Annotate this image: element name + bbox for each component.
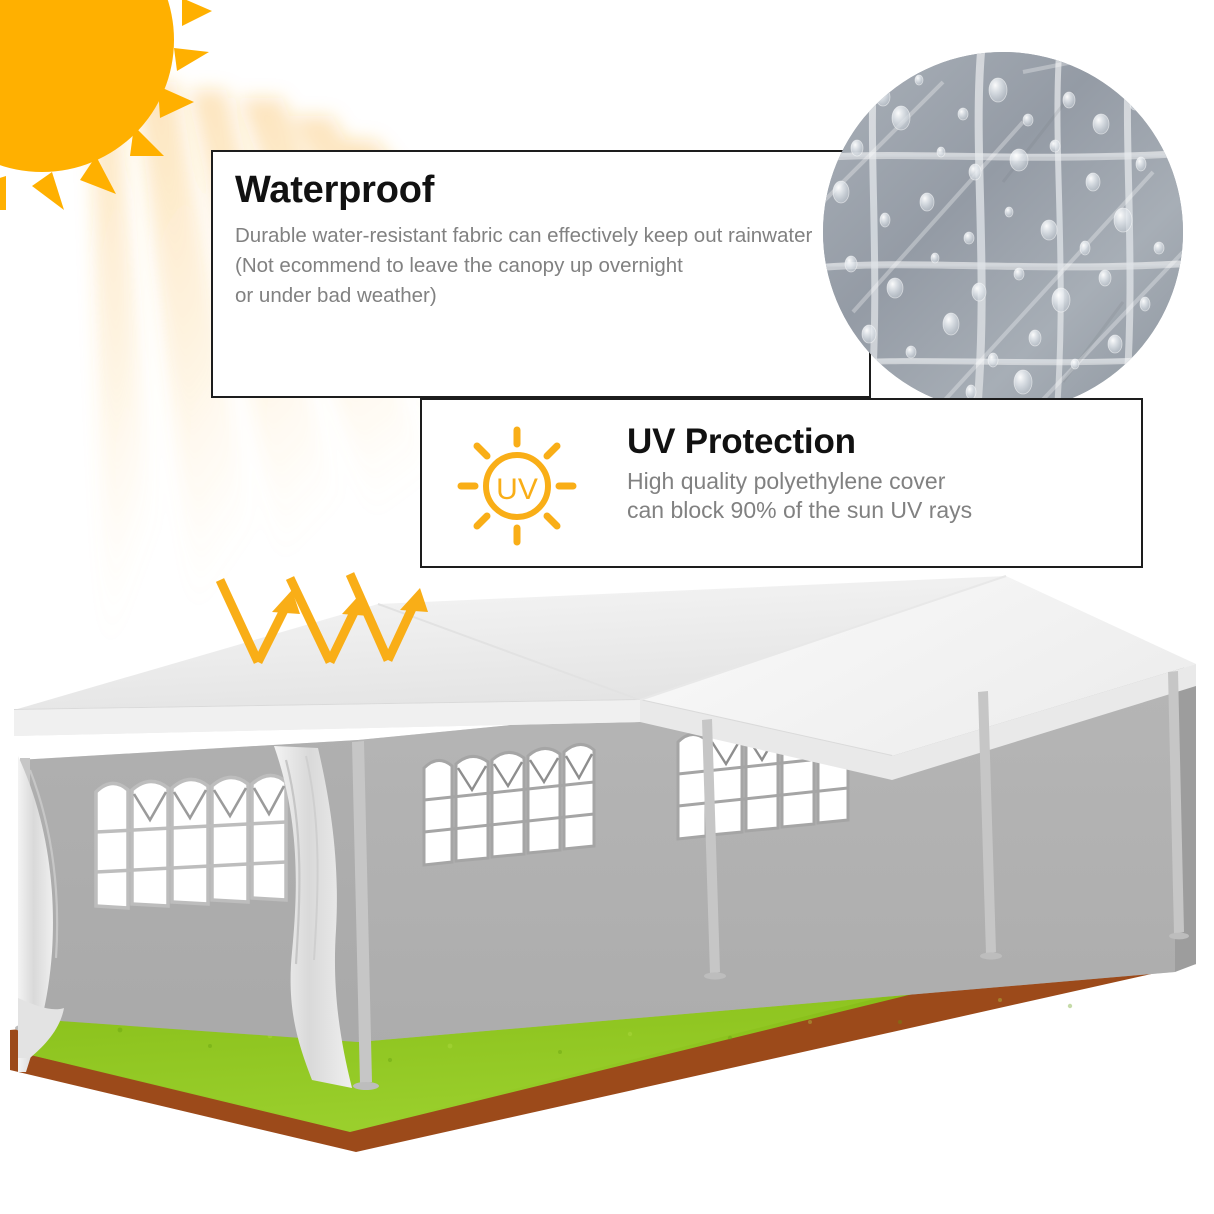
waterproof-title: Waterproof: [235, 168, 434, 212]
uv-sun-icon: UV: [457, 426, 577, 546]
uv-protection-description: High quality polyethylene cover can bloc…: [627, 467, 972, 525]
uv-protection-title: UV Protection: [627, 421, 856, 462]
uv-icon-label: UV: [496, 473, 538, 506]
water-droplets-on-fabric-photo: [823, 52, 1183, 412]
infographic-canvas: Waterproof Durable water-resistant fabri…: [0, 0, 1214, 1214]
waterproof-panel: Waterproof Durable water-resistant fabri…: [211, 150, 871, 398]
sun-icon: [0, 0, 212, 210]
waterproof-description: Durable water-resistant fabric can effec…: [235, 221, 812, 311]
party-tent-illustration: [0, 560, 1214, 1214]
uv-protection-panel: UV UV Protection High quality polyethyle…: [420, 398, 1143, 568]
sun-graphic: [0, 0, 212, 210]
